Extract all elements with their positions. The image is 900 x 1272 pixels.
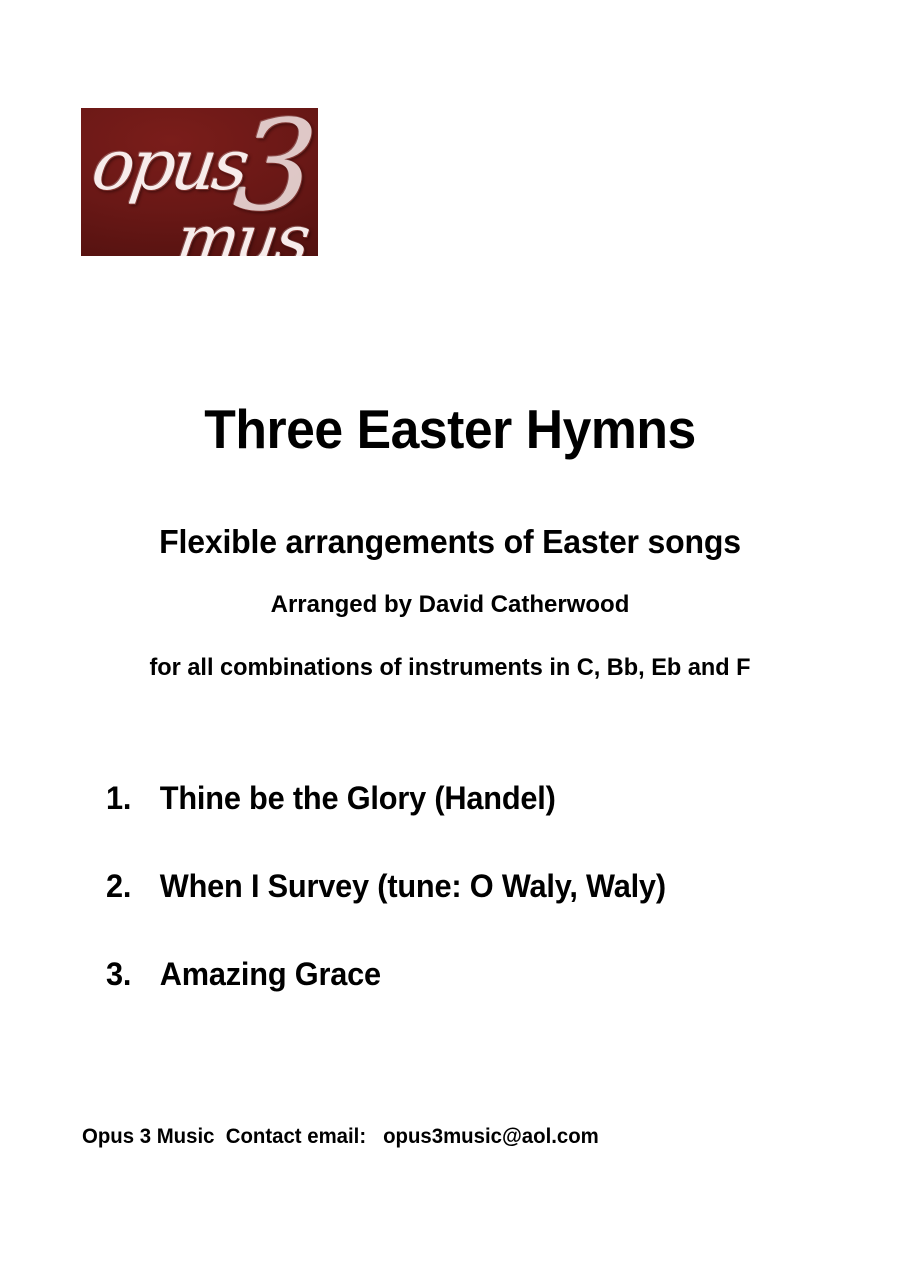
page-title: Three Easter Hymns [27,401,873,459]
track-title: Amazing Grace [160,958,381,990]
track-number: 3. [106,958,160,990]
arranger-credit: Arranged by David Catherwood [0,592,900,618]
logo-word-opus: opus [87,124,250,206]
list-item: 3. Amazing Grace [106,958,816,1046]
logo-numeral-3: 3 [230,108,317,229]
page-subtitle: Flexible arrangements of Easter songs [14,524,887,560]
score-cover-page: 3 opus mus Three Easter Hymns Flexible a… [0,0,900,1272]
list-item: 1. Thine be the Glory (Handel) [106,782,816,870]
track-number: 2. [106,870,160,902]
instrumentation-note: for all combinations of instruments in C… [9,655,891,681]
footer-contact-line: Opus 3 Music Contact email: opus3music@a… [82,1124,599,1149]
track-title: When I Survey (tune: O Waly, Waly) [160,870,666,902]
track-number: 1. [106,782,160,814]
list-item: 2. When I Survey (tune: O Waly, Waly) [106,870,816,958]
tracklist: 1. Thine be the Glory (Handel) 2. When I… [106,782,846,1046]
logo-word-mus: mus [172,201,313,256]
track-title: Thine be the Glory (Handel) [160,782,556,814]
opus-3-music-logo: 3 opus mus [81,108,318,256]
